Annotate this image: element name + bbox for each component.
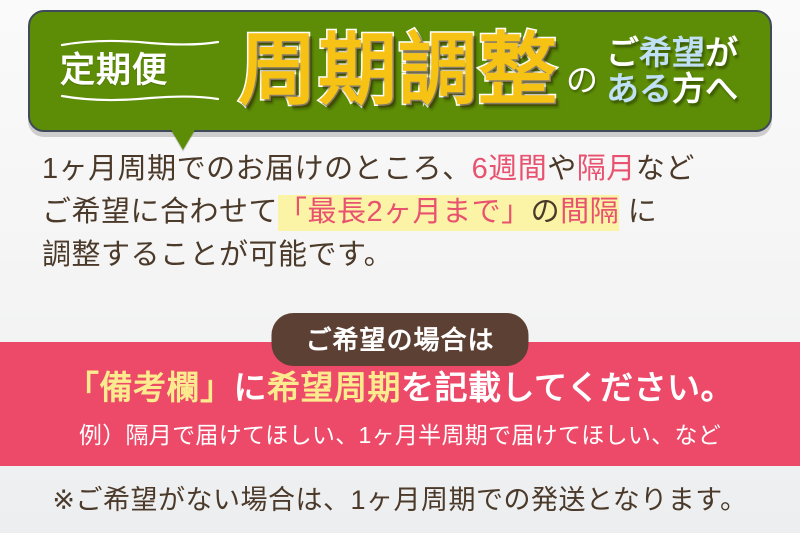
- headline-particle: の: [566, 64, 598, 96]
- wavy-line-icon: [60, 93, 220, 102]
- section-pill-label: ご希望の場合は: [271, 313, 528, 366]
- side-text-part: が: [705, 34, 738, 71]
- body-segment: や: [547, 153, 577, 185]
- side-text-part: 希望: [639, 34, 705, 71]
- header-side-text: ご希望が ある方へ: [606, 35, 738, 106]
- body-segment: 1ヶ月周期でのお届けのところ、: [42, 153, 472, 185]
- body-segment: に: [619, 196, 657, 228]
- headline-text: 周期調整: [238, 30, 558, 109]
- subscription-badge: 定期便: [56, 29, 224, 114]
- body-segment-highlight: 6週間: [472, 153, 548, 185]
- body-segment-marked: 「最長2ヶ月まで」: [278, 195, 531, 231]
- side-text-part: ある: [606, 70, 672, 107]
- header-side-line-1: ご希望が: [606, 35, 738, 71]
- pink-text-part: 希望周期: [267, 369, 401, 406]
- promo-banner: 定期便 周期調整 の ご希望が ある方へ 1ヶ月周期でのお届けのところ、6週間や…: [0, 0, 800, 533]
- header-banner: 定期便 周期調整 の ご希望が ある方へ: [28, 10, 772, 132]
- pink-example-line: 例）隔月で届けてほしい、1ヶ月半周期で届けてほしい、など: [0, 416, 800, 450]
- body-segment-highlight: 隔月: [577, 153, 636, 185]
- pink-text-part: を記載してください。: [401, 369, 734, 406]
- side-text-part: ご: [606, 34, 639, 71]
- body-segment: など: [636, 153, 695, 185]
- body-segment: 調整することが可能です。: [42, 239, 393, 271]
- body-paragraph: 1ヶ月周期でのお届けのところ、6週間や隔月など ご希望に合わせて「最長2ヶ月まで…: [42, 148, 768, 277]
- speech-bubble-tail-icon: [170, 128, 196, 150]
- subscription-badge-label: 定期便: [60, 53, 220, 88]
- body-segment-marked: 間隔: [560, 195, 619, 231]
- wavy-line-icon: [60, 39, 220, 48]
- pink-text-part: 「備考欄」: [66, 369, 234, 406]
- body-segment-marked: の: [531, 195, 561, 231]
- side-text-part: 方へ: [672, 70, 738, 107]
- pink-text-part: に: [233, 369, 267, 406]
- header-pill: 定期便 周期調整 の ご希望が ある方へ: [28, 10, 772, 132]
- footer-note: ※ご希望がない場合は、1ヶ月周期での発送となります。: [0, 478, 800, 517]
- pink-main-line: 「備考欄」に希望周期を記載してください。: [0, 361, 800, 409]
- header-side-line-2: ある方へ: [606, 71, 738, 107]
- body-segment: ご希望に合わせて: [42, 196, 278, 228]
